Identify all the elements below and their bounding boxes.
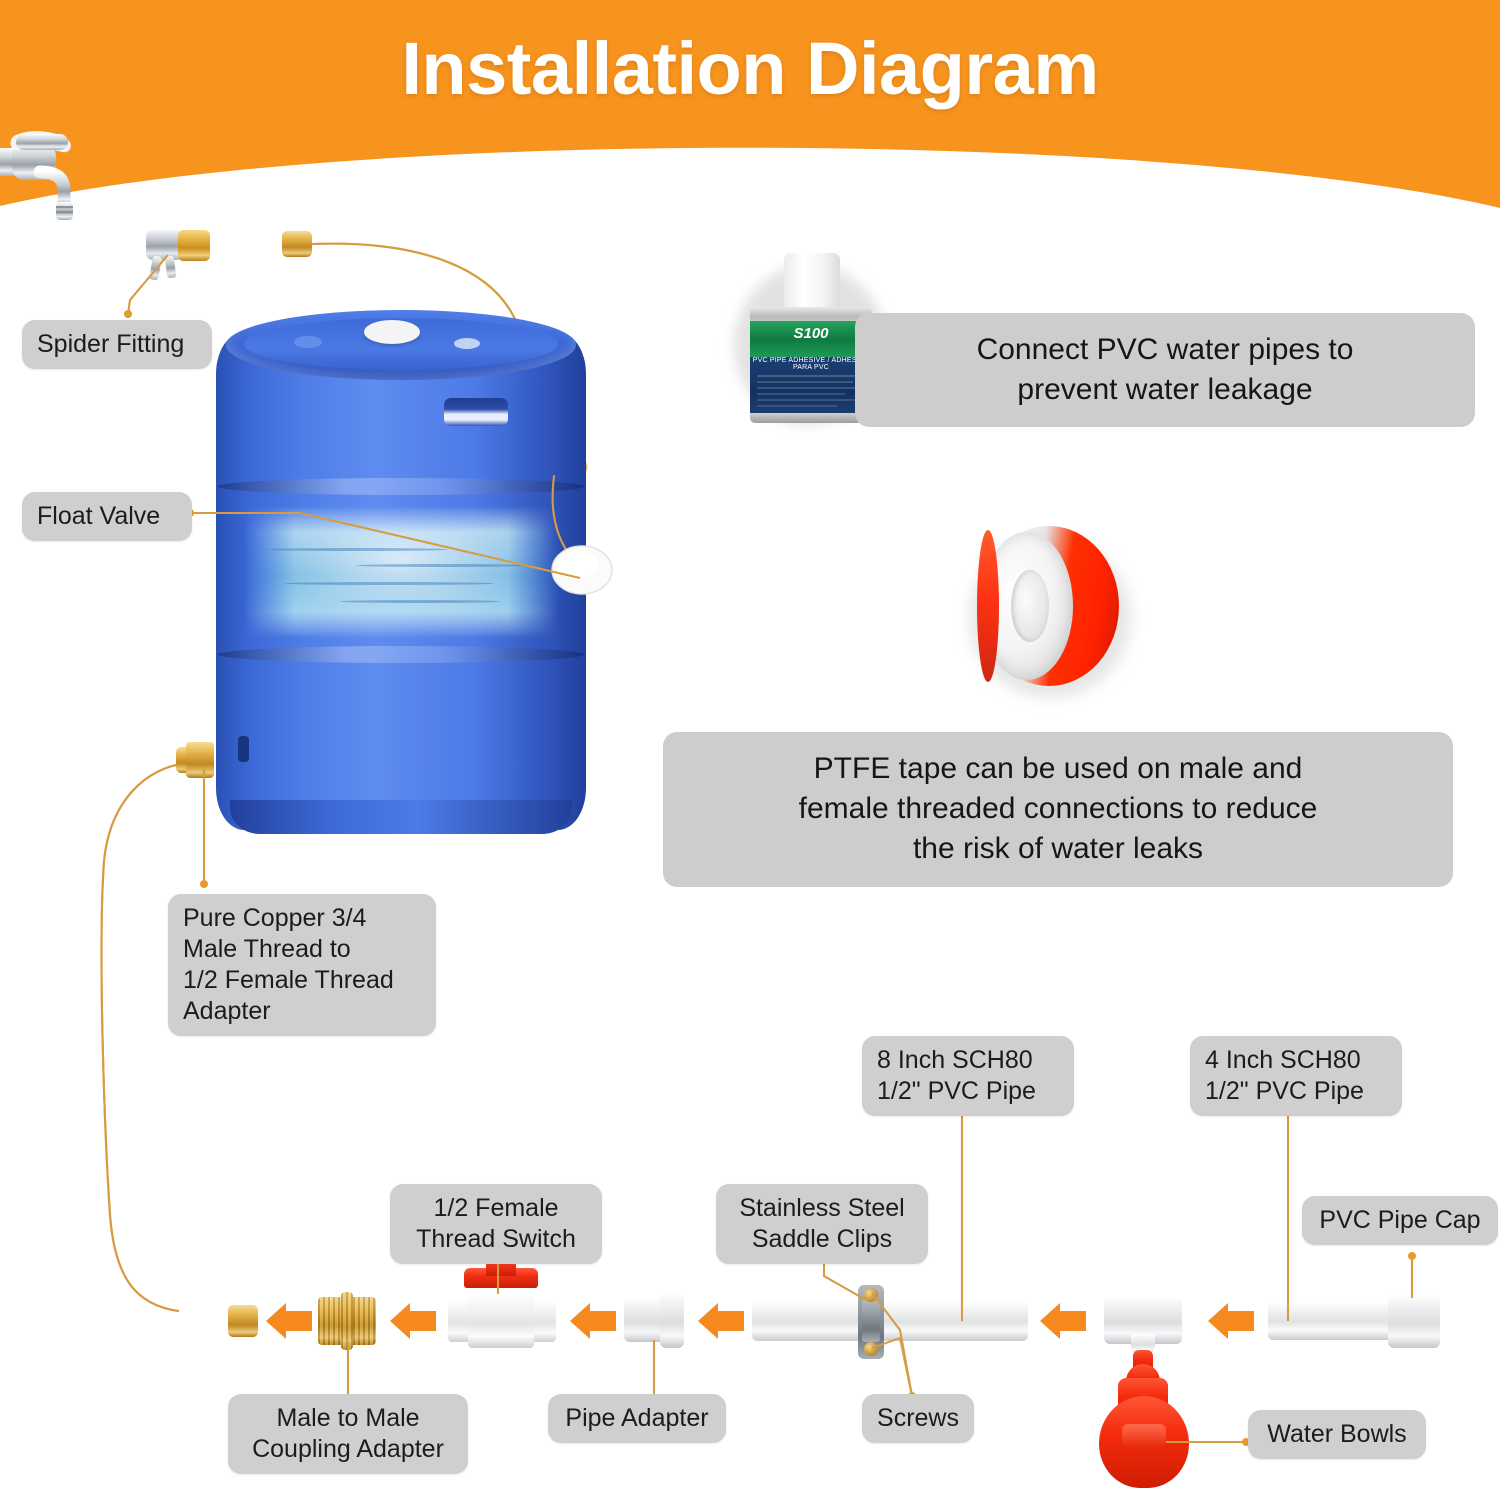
flow-arrow-3 [570, 1302, 616, 1340]
barrel-vent [454, 338, 480, 349]
barrel-bung-hole [294, 336, 322, 348]
callout-water-bowls[interactable]: Water Bowls [1248, 1410, 1426, 1459]
spider-fitting-part [146, 228, 220, 284]
callout-copper-adapter[interactable]: Pure Copper 3/4 Male Thread to 1/2 Femal… [168, 894, 436, 1036]
can-lid [784, 253, 840, 315]
ptfe-tape-note: PTFE tape can be used on male and female… [663, 732, 1453, 887]
tape-red-edge [977, 530, 999, 682]
saddle-screw-bottom [864, 1342, 878, 1356]
faucet-icon [0, 128, 114, 228]
barrel-handle [444, 398, 508, 426]
water-bowl-trigger [1122, 1424, 1166, 1448]
callout-screws[interactable]: Screws [862, 1394, 974, 1443]
barrel-water-graphic [244, 506, 558, 638]
tape-core-hole [1011, 570, 1049, 642]
barrel-rib-lower [218, 646, 584, 663]
saddle-clip-band [862, 1300, 880, 1342]
saddle-screw-top [864, 1288, 878, 1302]
eight-inch-pvc-pipe [752, 1301, 1028, 1341]
callout-pipe-4inch[interactable]: 4 Inch SCH80 1/2" PVC Pipe [1190, 1036, 1402, 1116]
flow-arrow-5 [1040, 1302, 1086, 1340]
pvc-pipe-cap-part [1388, 1294, 1440, 1348]
barrel-cap [364, 320, 420, 344]
barrel-base [230, 800, 572, 834]
flow-arrow-2 [390, 1302, 436, 1340]
callout-spider-fitting[interactable]: Spider Fitting [22, 320, 212, 369]
callout-saddle-clips[interactable]: Stainless Steel Saddle Clips [716, 1184, 928, 1264]
spider-elbow [146, 230, 180, 260]
installation-diagram-page: Installation Diagram [0, 0, 1500, 1492]
callout-pvc-pipe-cap[interactable]: PVC Pipe Cap [1302, 1196, 1498, 1245]
callout-pipe-8inch[interactable]: 8 Inch SCH80 1/2" PVC Pipe [862, 1036, 1074, 1116]
water-barrel [216, 306, 586, 831]
ptfe-tape-roll [975, 522, 1125, 707]
flow-arrow-1 [266, 1302, 312, 1340]
pipe-adapter-flange [660, 1292, 684, 1348]
barrel-brass-adapter [186, 742, 214, 778]
callout-male-coupling[interactable]: Male to Male Coupling Adapter [228, 1394, 468, 1474]
can-foot [750, 413, 872, 423]
callout-float-valve[interactable]: Float Valve [22, 492, 192, 541]
barrel-outlet-port [238, 736, 249, 762]
flow-arrow-6 [1208, 1302, 1254, 1340]
coupling-center-collar [341, 1292, 353, 1350]
thread-switch-valve-center [468, 1294, 534, 1348]
hose-top-nut [282, 231, 312, 257]
barrel-rib-upper [218, 478, 584, 495]
page-title: Installation Diagram [0, 26, 1500, 111]
spider-brass-nut [178, 230, 210, 261]
pvc-adhesive-note: Connect PVC water pipes to prevent water… [855, 313, 1475, 427]
callout-pipe-adapter[interactable]: Pipe Adapter [548, 1394, 726, 1443]
left-hose-bottom-nut [228, 1305, 258, 1337]
flow-arrow-4 [698, 1302, 744, 1340]
callout-thread-switch[interactable]: 1/2 Female Thread Switch [390, 1184, 602, 1264]
